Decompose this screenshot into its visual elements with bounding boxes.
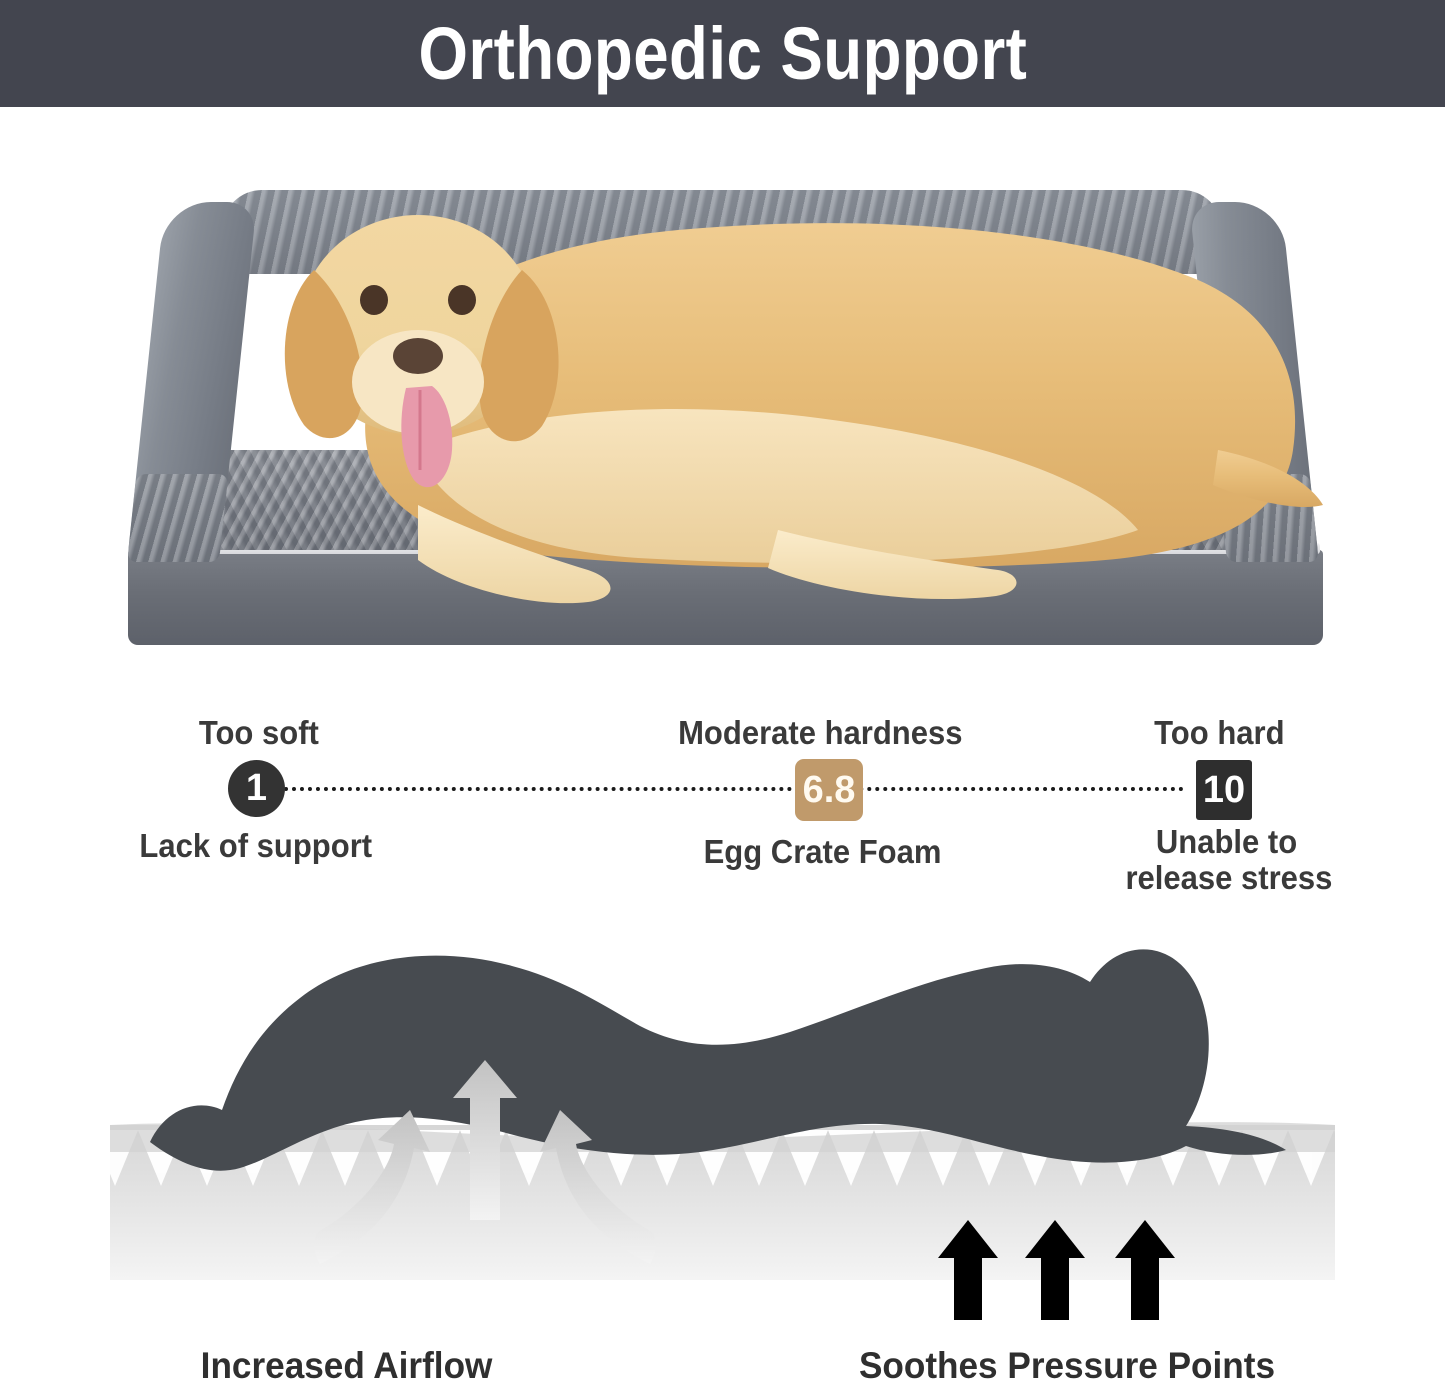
pressure-arrows: [938, 1220, 1175, 1320]
sublabel-line-1: Unable to: [1125, 824, 1327, 860]
scale-marker-1: 1: [228, 760, 285, 817]
header-bar: Orthopedic Support: [0, 0, 1445, 107]
scale-sublabel-lack-of-support: Lack of support: [139, 828, 372, 864]
sublabel-line-2: release stress: [1125, 860, 1327, 896]
page-title: Orthopedic Support: [418, 17, 1027, 91]
product-photo: [118, 150, 1333, 670]
scale-label-too-soft: Too soft: [199, 714, 319, 752]
scale-label-moderate-hardness: Moderate hardness: [678, 714, 962, 752]
product-infographic: Orthopedic Support: [0, 0, 1445, 1391]
scale-sublabel-unable-to-release-stress: Unable to release stress: [1125, 824, 1327, 895]
scale-marker-6-8: 6.8: [795, 759, 863, 821]
dog-eye-left: [360, 285, 388, 315]
scale-dotted-line: [284, 787, 1184, 791]
scale-label-too-hard: Too hard: [1154, 714, 1284, 752]
dog-nose: [393, 338, 443, 374]
scale-marker-10: 10: [1196, 760, 1252, 820]
dog-eye-right: [448, 285, 476, 315]
foam-cross-section-diagram: [0, 920, 1445, 1320]
caption-soothes-pressure-points: Soothes Pressure Points: [859, 1345, 1275, 1387]
scale-sublabel-egg-crate-foam: Egg Crate Foam: [704, 834, 942, 870]
golden-retriever-photo: [118, 150, 1333, 670]
caption-increased-airflow: Increased Airflow: [201, 1345, 493, 1387]
